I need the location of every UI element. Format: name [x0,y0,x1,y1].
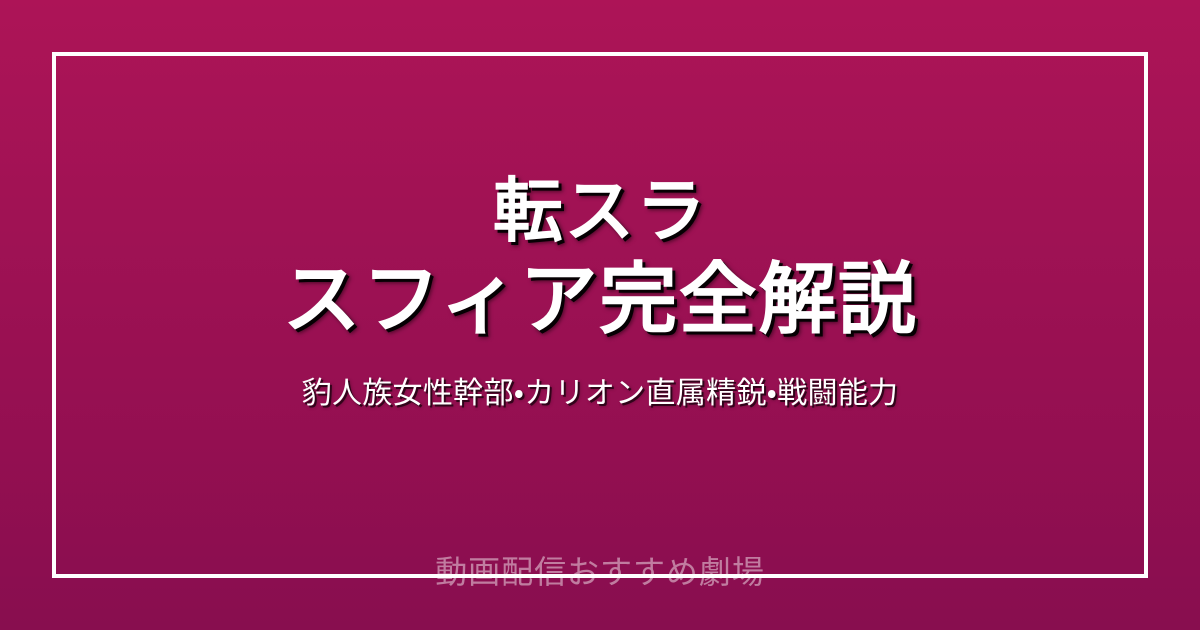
subtitle: 豹人族女性幹部・カリオン直属精鋭・戦闘能力 [0,374,1200,414]
brand-watermark: 動画配信おすすめ劇場 [0,552,1200,592]
title-line-2: スフィア完全解説 [0,254,1200,346]
page-title: 転スラ スフィア完全解説 [0,168,1200,346]
content-stack: 転スラ スフィア完全解説 豹人族女性幹部・カリオン直属精鋭・戦闘能力 動画配信お… [0,0,1200,630]
thumbnail-card: 転スラ スフィア完全解説 豹人族女性幹部・カリオン直属精鋭・戦闘能力 動画配信お… [0,0,1200,630]
title-line-1: 転スラ [0,168,1200,254]
